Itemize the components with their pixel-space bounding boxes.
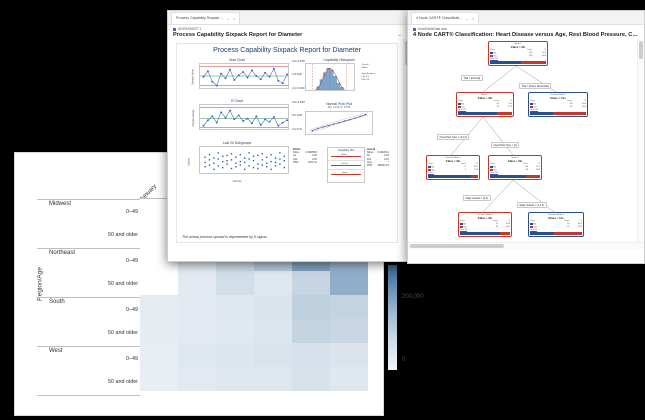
heatmap-region-label: Midwest [49, 201, 71, 207]
tab-process-capability[interactable]: Process Capability Sixpack ... ⌄ × [171, 12, 240, 24]
heatmap-cell[interactable] [330, 319, 368, 343]
heatmap-cell[interactable] [330, 271, 368, 295]
heatmap-age-label: 0–49 [126, 258, 138, 264]
worksheet-icon [173, 28, 176, 31]
cart-vertical-scrollbar[interactable] [637, 39, 644, 243]
breadcrumb[interactable]: HeartTableData.mtw [413, 27, 639, 31]
heatmap-cell[interactable] [140, 367, 178, 391]
tree-node-total[interactable]: Total 7 [428, 172, 478, 174]
heatmap-age-label: 50 and older [108, 379, 138, 385]
stat-label: PPM [293, 161, 298, 164]
tree-node-total[interactable]: Total 30 [530, 229, 582, 231]
stats-overall: Overall StDev 0.0918341 Pp 0.18 Ppk 0.02… [367, 148, 389, 167]
heatmap-cell[interactable] [330, 367, 368, 391]
chevron-down-icon[interactable]: ⌄ [465, 16, 468, 21]
tree-node-t1[interactable]: Terminal Node 4Class = YesClassCount% No… [528, 92, 588, 117]
capability-report-card: Process Capability Sixpack Report for Di… [176, 43, 398, 243]
heatmap-age-label: 0–49 [126, 356, 138, 362]
capability-plot-overall: Overall [328, 161, 364, 170]
tree-node-table: ClassCount% No9272.4 Yes3527.6 [458, 100, 512, 109]
heatmap-cell[interactable] [178, 343, 216, 367]
page-title: Process Capability Sixpack Report for Di… [173, 32, 405, 38]
cart-horizontal-scrollbar[interactable] [408, 242, 644, 249]
histogram-legend-within: Within [362, 67, 376, 70]
histogram-legend: Overall Within Specifications LSL 0.5 US… [362, 64, 376, 82]
heatmap-region-label: Northeast [49, 250, 75, 256]
probplot-subtitle: AD: 1.131, P: 0.750 [303, 106, 375, 109]
tree-node-t4[interactable]: Terminal Node 3Class = YesClassCount% No… [528, 212, 584, 237]
histogram-plot-area [305, 63, 355, 91]
heatmap-cell[interactable] [216, 319, 254, 343]
heatmap-cell[interactable] [292, 319, 330, 343]
worksheet-icon [413, 28, 416, 31]
stats-within: Within StDev 0.0828593 Cp 0.20 Cpk 0.02 … [293, 148, 317, 164]
heatmap-cell[interactable] [330, 295, 368, 319]
tree-node-bar [490, 175, 540, 178]
tree-split-label: Chest Pain Type = (1,2,3) [437, 134, 469, 140]
capability-tab-strip[interactable]: Process Capability Sixpack ... ⌄ × [168, 11, 410, 25]
heatmap-cell[interactable] [254, 295, 292, 319]
report-title: Process Capability Sixpack Report for Di… [177, 47, 397, 54]
heatmap-cell[interactable] [178, 295, 216, 319]
heatmap-cell[interactable] [292, 295, 330, 319]
heatmap-cell[interactable] [330, 343, 368, 367]
tree-node-table: ClassCount% No685.7 Yes114.3 [428, 163, 478, 172]
scrollbar-thumb[interactable] [410, 244, 504, 248]
r-chart-plot-area [199, 104, 289, 130]
heatmap-legend-min: 0 [402, 357, 405, 363]
chevron-down-icon[interactable]: ⌄ [226, 16, 229, 21]
stat-value: 4072.41 [308, 161, 317, 164]
heatmap-row-group: South 0–49 50 and older [37, 297, 140, 346]
heatmap-color-gradient [388, 265, 397, 370]
xbar-chart-title: Xbar Chart [185, 58, 289, 62]
last20-plot-area [199, 146, 289, 174]
tree-node-table: ClassCount% No5840.6 Yes8559.4 [530, 100, 586, 109]
tree-node-table: ClassCount% No7280.0 Yes1820.0 [460, 220, 510, 229]
heatmap-cell[interactable] [216, 295, 254, 319]
heatmap-cell[interactable] [254, 271, 292, 295]
xbar-center-label: X=0.6040 [292, 74, 302, 76]
tree-node-total[interactable]: Total 90 [460, 229, 510, 231]
close-icon[interactable]: × [471, 16, 473, 21]
heatmap-cell[interactable] [216, 343, 254, 367]
tree-node-t2[interactable]: Terminal Node 1Class = NoClassCount% No6… [426, 155, 480, 180]
r-chart-lcl-label: LCL=0.00 [292, 129, 302, 131]
capability-plot-specs: Specs [328, 170, 364, 178]
heatmap-row-labels: Midwest 0–49 50 and older Northeast 0–49… [37, 199, 140, 396]
tree-node-total[interactable]: Total 127 [458, 109, 512, 111]
heatmap-cell[interactable] [254, 343, 292, 367]
last20-panel: Last 20 Subgroups Values [185, 141, 289, 183]
capability-plot-overall-label: Overall [340, 163, 348, 165]
heatmap-age-label: 50 and older [108, 232, 138, 238]
heatmap-cell[interactable] [216, 271, 254, 295]
tab-label: Process Capability Sixpack ... [176, 16, 223, 20]
report-footer-note: The actual process spread is represented… [182, 235, 268, 239]
tab-label: 4 Node CART® Classificati... [416, 16, 462, 20]
r-chart-panel: R Chart Sample Range [185, 99, 289, 137]
heatmap-cell[interactable] [178, 367, 216, 391]
last20-title: Last 20 Subgroups [185, 141, 289, 145]
tab-cart-classification[interactable]: 4 Node CART® Classificati... ⌄ × [411, 12, 479, 24]
tree-split-label: Thal = (Fixed, Reversible) [519, 83, 551, 89]
heatmap-cell[interactable] [254, 319, 292, 343]
tree-node-n2[interactable]: Node 2Class = NoClassCount% No9272.4 Yes… [456, 92, 514, 117]
tree-split-label: Major Vessels = (1,2,3) [517, 202, 547, 208]
heatmap-age-label: 0–49 [126, 307, 138, 313]
tree-node-bar [490, 61, 546, 64]
stat-label: PPM [367, 164, 372, 167]
tree-split-label: Thal = (Normal) [461, 75, 483, 81]
heatmap-cell[interactable] [140, 271, 178, 295]
cart-header: HeartTableData.mtw 4 Node CART® Classifi… [408, 25, 644, 39]
capability-plot-specs-label: Specs [341, 172, 349, 174]
heatmap-cell[interactable] [292, 271, 330, 295]
xbar-y-axis-title: Sample Mean [192, 69, 195, 85]
heatmap-legend-max: 200,000 [402, 294, 424, 300]
capability-plot-panel: Capability Plot Within Overall Specs [327, 147, 365, 183]
cart-tab-strip[interactable]: 4 Node CART® Classificati... ⌄ × [408, 11, 644, 25]
heatmap-cell[interactable] [140, 295, 178, 319]
last20-y-axis-title: Values [187, 158, 190, 166]
last20-x-axis-title: Sample [185, 180, 289, 183]
tree-node-total[interactable]: Total 120 [490, 172, 540, 174]
heatmap-region-label: South [49, 299, 65, 305]
capability-plot-within-label: Within [340, 154, 348, 156]
tree-node-table: ClassCount% No15054.5 Yes12044.4 [490, 49, 546, 58]
tree-node-t3[interactable]: Terminal Node 2Class = NoClassCount% No7… [458, 212, 512, 237]
histogram-lsl-label: LSL [362, 76, 366, 78]
cart-body[interactable]: Node 1Class = NoClassCount% No15054.5 Ye… [408, 39, 644, 249]
cart-decision-tree[interactable]: Node 1Class = NoClassCount% No15054.5 Ye… [408, 39, 644, 249]
breadcrumb-label: WORKSHEET 1 [178, 27, 201, 31]
close-icon[interactable]: × [233, 16, 235, 21]
tree-node-bar [460, 232, 510, 235]
heatmap-age-label: 50 and older [108, 330, 138, 336]
heatmap-cell[interactable] [292, 343, 330, 367]
heatmap-row-group: West 0–49 50 and older [37, 346, 140, 396]
xbar-chart-panel: Xbar Chart Sample Mean [185, 58, 289, 96]
chevron-down-icon[interactable]: ⌄ [632, 32, 636, 38]
tree-node-total[interactable]: Total 143 [530, 109, 586, 111]
histogram-usl-value: 0.6 [366, 79, 369, 81]
desktop-background: Region/Age Midwest 0–49 50 and older Nor… [0, 0, 645, 420]
heatmap-row-group: Northeast 0–49 50 and older [37, 248, 140, 297]
page-title: 4 Node CART® Classification: Heart Disea… [413, 32, 639, 38]
tree-node-root[interactable]: Node 1Class = NoClassCount% No15054.5 Ye… [488, 41, 548, 66]
tree-node-bar [530, 112, 586, 115]
tree-node-bar [530, 232, 582, 235]
heatmap-age-label: 50 and older [108, 281, 138, 287]
tree-node-total[interactable]: Total 270 [490, 58, 546, 60]
heatmap-cell[interactable] [292, 367, 330, 391]
histogram-title: Capability Histogram [303, 58, 375, 62]
r-chart-title: R Chart [185, 99, 289, 103]
tree-node-table: ClassCount% No1446.7 Yes1653.3 [530, 220, 582, 229]
xbar-plot-area [199, 63, 289, 89]
r-chart-center-label: R=0.1928 [292, 115, 302, 117]
r-chart-y-axis-title: Sample Range [192, 109, 195, 126]
capability-plot-within: Within [328, 152, 364, 161]
tree-node-bar [458, 112, 512, 115]
heatmap-color-legend: 200,000 0 [388, 265, 448, 370]
probplot-plot-area [305, 111, 373, 135]
heatmap-cell[interactable] [254, 367, 292, 391]
heatmap-cell[interactable] [178, 319, 216, 343]
heatmap-cell[interactable] [140, 319, 178, 343]
heatmap-region-label: West [49, 348, 63, 354]
tree-node-bar [428, 175, 478, 178]
heatmap-cell[interactable] [216, 367, 254, 391]
heatmap-cell[interactable] [140, 343, 178, 367]
capability-body[interactable]: Process Capability Sixpack Report for Di… [168, 39, 410, 247]
tree-node-table: ClassCount% No8671.7 Yes3428.3 [490, 163, 540, 172]
heatmap-cell[interactable] [178, 271, 216, 295]
heatmap-age-label: 0–49 [126, 209, 138, 215]
capability-window[interactable]: Process Capability Sixpack ... ⌄ × WORKS… [167, 10, 411, 262]
tree-node-n3[interactable]: Node 3Class = NoClassCount% No8671.7 Yes… [488, 155, 542, 180]
breadcrumb-label: HeartTableData.mtw [418, 27, 447, 31]
histogram-lsl-value: 0.5 [366, 76, 369, 78]
scrollbar-thumb[interactable] [639, 41, 643, 59]
probplot-panel: Normal Prob Plot AD: 1.131, P: 0.750 [303, 102, 375, 142]
tree-split-label: Chest Pain Type = (4) [491, 142, 519, 148]
cart-window[interactable]: 4 Node CART® Classificati... ⌄ × HeartTa… [407, 10, 645, 264]
heatmap-row-group: Midwest 0–49 50 and older [37, 199, 140, 248]
breadcrumb[interactable]: WORKSHEET 1 [173, 27, 405, 31]
capability-header: WORKSHEET 1 Process Capability Sixpack R… [168, 25, 410, 39]
histogram-panel: Capability Histogram [303, 58, 375, 98]
heatmap-column-tick [143, 194, 144, 198]
tree-split-label: Major Vessels = (0,4) [463, 195, 491, 201]
stat-value: 458433.15 [378, 164, 389, 167]
chevron-down-icon[interactable]: ⌄ [398, 32, 402, 38]
